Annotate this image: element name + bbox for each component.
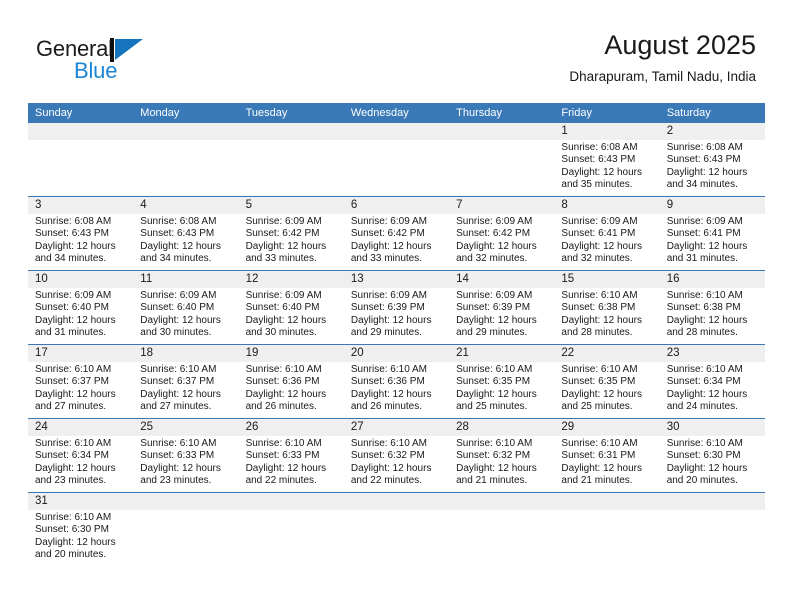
day-number-empty	[239, 123, 344, 140]
day-number-empty	[133, 493, 238, 510]
calendar-grid: SundayMondayTuesdayWednesdayThursdayFrid…	[28, 103, 765, 570]
day-number-empty	[449, 493, 554, 510]
day-number-empty	[344, 123, 449, 140]
day-detail-line: Sunset: 6:33 PM	[246, 450, 338, 462]
day-cell-12[interactable]: Sunrise: 6:09 AMSunset: 6:40 PMDaylight:…	[239, 288, 344, 344]
day-detail-line: Sunrise: 6:09 AM	[246, 216, 338, 228]
day-detail-line: Sunrise: 6:10 AM	[351, 364, 443, 376]
day-number-1[interactable]: 1	[554, 123, 659, 140]
day-detail-line: and 35 minutes.	[561, 179, 653, 191]
day-detail-line: Sunset: 6:43 PM	[561, 154, 653, 166]
day-detail-line: Sunrise: 6:08 AM	[561, 142, 653, 154]
day-detail-line: Sunrise: 6:10 AM	[667, 438, 759, 450]
day-cell-empty	[239, 140, 344, 196]
day-detail-line: Sunrise: 6:10 AM	[140, 438, 232, 450]
day-number-4[interactable]: 4	[133, 197, 238, 214]
day-detail-line: Sunrise: 6:10 AM	[561, 290, 653, 302]
day-detail-line: and 22 minutes.	[246, 475, 338, 487]
day-cell-14[interactable]: Sunrise: 6:09 AMSunset: 6:39 PMDaylight:…	[449, 288, 554, 344]
day-number-11[interactable]: 11	[133, 271, 238, 288]
day-detail-line: Sunset: 6:30 PM	[35, 524, 127, 536]
day-detail-line: Daylight: 12 hours	[35, 389, 127, 401]
day-cell-31[interactable]: Sunrise: 6:10 AMSunset: 6:30 PMDaylight:…	[28, 510, 133, 570]
day-detail-line: Sunrise: 6:10 AM	[35, 364, 127, 376]
day-number-2[interactable]: 2	[660, 123, 765, 140]
day-detail-line: Daylight: 12 hours	[140, 463, 232, 475]
weekday-header-saturday: Saturday	[660, 103, 765, 123]
day-cell-17[interactable]: Sunrise: 6:10 AMSunset: 6:37 PMDaylight:…	[28, 362, 133, 418]
day-number-24[interactable]: 24	[28, 419, 133, 436]
day-detail-line: and 30 minutes.	[140, 327, 232, 339]
day-detail-line: Sunset: 6:42 PM	[351, 228, 443, 240]
day-detail-line: Sunset: 6:43 PM	[667, 154, 759, 166]
day-cell-13[interactable]: Sunrise: 6:09 AMSunset: 6:39 PMDaylight:…	[344, 288, 449, 344]
day-detail-line: Sunset: 6:41 PM	[561, 228, 653, 240]
week-detail-band: Sunrise: 6:10 AMSunset: 6:34 PMDaylight:…	[28, 436, 765, 492]
weekday-header-row: SundayMondayTuesdayWednesdayThursdayFrid…	[28, 103, 765, 123]
weekday-header-thursday: Thursday	[449, 103, 554, 123]
day-detail-line: Daylight: 12 hours	[35, 315, 127, 327]
day-number-5[interactable]: 5	[239, 197, 344, 214]
day-number-30[interactable]: 30	[660, 419, 765, 436]
day-detail-line: Daylight: 12 hours	[561, 463, 653, 475]
day-cell-empty	[344, 140, 449, 196]
day-number-3[interactable]: 3	[28, 197, 133, 214]
day-number-22[interactable]: 22	[554, 345, 659, 362]
day-detail-line: Daylight: 12 hours	[561, 315, 653, 327]
title-block: August 2025 Dharapuram, Tamil Nadu, Indi…	[569, 28, 756, 87]
day-detail-line: and 25 minutes.	[561, 401, 653, 413]
day-number-empty	[554, 493, 659, 510]
day-detail-line: and 27 minutes.	[140, 401, 232, 413]
day-detail-line: and 33 minutes.	[246, 253, 338, 265]
day-number-16[interactable]: 16	[660, 271, 765, 288]
day-cell-23[interactable]: Sunrise: 6:10 AMSunset: 6:34 PMDaylight:…	[660, 362, 765, 418]
day-cell-24[interactable]: Sunrise: 6:10 AMSunset: 6:34 PMDaylight:…	[28, 436, 133, 492]
day-detail-line: Daylight: 12 hours	[246, 315, 338, 327]
day-number-28[interactable]: 28	[449, 419, 554, 436]
day-detail-line: Sunset: 6:37 PM	[140, 376, 232, 388]
day-cell-empty	[660, 510, 765, 570]
week-detail-band: Sunrise: 6:08 AMSunset: 6:43 PMDaylight:…	[28, 214, 765, 270]
day-detail-line: Daylight: 12 hours	[246, 463, 338, 475]
day-detail-line: Sunrise: 6:09 AM	[246, 290, 338, 302]
day-detail-line: Sunset: 6:42 PM	[456, 228, 548, 240]
day-detail-line: and 32 minutes.	[561, 253, 653, 265]
day-detail-line: Sunset: 6:42 PM	[246, 228, 338, 240]
day-detail-line: Sunrise: 6:09 AM	[456, 216, 548, 228]
day-detail-line: Daylight: 12 hours	[246, 389, 338, 401]
day-detail-line: Sunrise: 6:08 AM	[667, 142, 759, 154]
week-daynumber-band: 31	[28, 493, 765, 510]
day-detail-line: Daylight: 12 hours	[456, 241, 548, 253]
day-detail-line: Daylight: 12 hours	[140, 389, 232, 401]
day-detail-line: Daylight: 12 hours	[561, 167, 653, 179]
week-detail-band: Sunrise: 6:09 AMSunset: 6:40 PMDaylight:…	[28, 288, 765, 344]
week-daynumber-band: 17181920212223	[28, 345, 765, 362]
day-cell-21[interactable]: Sunrise: 6:10 AMSunset: 6:35 PMDaylight:…	[449, 362, 554, 418]
brand-logo[interactable]: General Blue	[36, 36, 226, 88]
day-detail-line: Daylight: 12 hours	[561, 389, 653, 401]
day-number-17[interactable]: 17	[28, 345, 133, 362]
day-detail-line: Daylight: 12 hours	[351, 315, 443, 327]
day-detail-line: Daylight: 12 hours	[35, 537, 127, 549]
day-detail-line: Sunset: 6:38 PM	[667, 302, 759, 314]
day-detail-line: Daylight: 12 hours	[140, 241, 232, 253]
day-detail-line: and 30 minutes.	[246, 327, 338, 339]
day-detail-line: Sunrise: 6:10 AM	[667, 290, 759, 302]
day-cell-empty	[239, 510, 344, 570]
weekday-header-tuesday: Tuesday	[239, 103, 344, 123]
day-detail-line: Sunrise: 6:09 AM	[35, 290, 127, 302]
day-detail-line: Daylight: 12 hours	[246, 241, 338, 253]
day-detail-line: Sunrise: 6:08 AM	[140, 216, 232, 228]
day-detail-line: and 34 minutes.	[35, 253, 127, 265]
day-detail-line: Sunrise: 6:10 AM	[246, 364, 338, 376]
week-daynumber-band: 10111213141516	[28, 271, 765, 288]
day-detail-line: and 29 minutes.	[351, 327, 443, 339]
weekday-header-friday: Friday	[554, 103, 659, 123]
day-number-8[interactable]: 8	[554, 197, 659, 214]
day-detail-line: Sunrise: 6:10 AM	[140, 364, 232, 376]
day-number-9[interactable]: 9	[660, 197, 765, 214]
day-number-25[interactable]: 25	[133, 419, 238, 436]
day-number-18[interactable]: 18	[133, 345, 238, 362]
day-detail-line: and 34 minutes.	[140, 253, 232, 265]
day-cell-29[interactable]: Sunrise: 6:10 AMSunset: 6:31 PMDaylight:…	[554, 436, 659, 492]
day-detail-line: Sunrise: 6:09 AM	[351, 216, 443, 228]
day-cell-6[interactable]: Sunrise: 6:09 AMSunset: 6:42 PMDaylight:…	[344, 214, 449, 270]
day-detail-line: Sunrise: 6:10 AM	[351, 438, 443, 450]
day-detail-line: Sunrise: 6:10 AM	[35, 512, 127, 524]
day-cell-22[interactable]: Sunrise: 6:10 AMSunset: 6:35 PMDaylight:…	[554, 362, 659, 418]
day-detail-line: Sunset: 6:43 PM	[140, 228, 232, 240]
day-number-14[interactable]: 14	[449, 271, 554, 288]
day-detail-line: Daylight: 12 hours	[561, 241, 653, 253]
day-cell-3[interactable]: Sunrise: 6:08 AMSunset: 6:43 PMDaylight:…	[28, 214, 133, 270]
calendar-weeks: 12Sunrise: 6:08 AMSunset: 6:43 PMDayligh…	[28, 123, 765, 570]
day-detail-line: Sunset: 6:33 PM	[140, 450, 232, 462]
day-cell-16[interactable]: Sunrise: 6:10 AMSunset: 6:38 PMDaylight:…	[660, 288, 765, 344]
day-detail-line: and 20 minutes.	[667, 475, 759, 487]
day-detail-line: Sunrise: 6:10 AM	[561, 364, 653, 376]
day-cell-26[interactable]: Sunrise: 6:10 AMSunset: 6:33 PMDaylight:…	[239, 436, 344, 492]
day-detail-line: Sunset: 6:40 PM	[246, 302, 338, 314]
day-detail-line: Daylight: 12 hours	[351, 389, 443, 401]
day-detail-line: Sunrise: 6:10 AM	[561, 438, 653, 450]
page-title: August 2025	[569, 28, 756, 62]
day-detail-line: and 27 minutes.	[35, 401, 127, 413]
day-detail-line: Daylight: 12 hours	[456, 315, 548, 327]
day-detail-line: Daylight: 12 hours	[667, 241, 759, 253]
weekday-header-monday: Monday	[133, 103, 238, 123]
week-detail-band: Sunrise: 6:08 AMSunset: 6:43 PMDaylight:…	[28, 140, 765, 196]
day-number-23[interactable]: 23	[660, 345, 765, 362]
day-number-7[interactable]: 7	[449, 197, 554, 214]
day-detail-line: and 29 minutes.	[456, 327, 548, 339]
week-daynumber-band: 24252627282930	[28, 419, 765, 436]
day-number-13[interactable]: 13	[344, 271, 449, 288]
day-detail-line: Daylight: 12 hours	[456, 463, 548, 475]
day-detail-line: Sunset: 6:43 PM	[35, 228, 127, 240]
day-detail-line: Sunrise: 6:10 AM	[456, 438, 548, 450]
day-number-20[interactable]: 20	[344, 345, 449, 362]
day-detail-line: Sunset: 6:32 PM	[456, 450, 548, 462]
day-number-29[interactable]: 29	[554, 419, 659, 436]
day-detail-line: Sunset: 6:39 PM	[456, 302, 548, 314]
day-detail-line: and 23 minutes.	[35, 475, 127, 487]
day-detail-line: Sunrise: 6:09 AM	[351, 290, 443, 302]
calendar-page: General Blue August 2025 Dharapuram, Tam…	[0, 0, 792, 612]
day-detail-line: Sunset: 6:40 PM	[35, 302, 127, 314]
day-number-27[interactable]: 27	[344, 419, 449, 436]
day-number-26[interactable]: 26	[239, 419, 344, 436]
day-cell-15[interactable]: Sunrise: 6:10 AMSunset: 6:38 PMDaylight:…	[554, 288, 659, 344]
day-number-19[interactable]: 19	[239, 345, 344, 362]
day-detail-line: Daylight: 12 hours	[35, 241, 127, 253]
day-cell-1[interactable]: Sunrise: 6:08 AMSunset: 6:43 PMDaylight:…	[554, 140, 659, 196]
day-detail-line: Sunset: 6:36 PM	[246, 376, 338, 388]
day-cell-empty	[28, 140, 133, 196]
day-number-12[interactable]: 12	[239, 271, 344, 288]
day-detail-line: Sunset: 6:38 PM	[561, 302, 653, 314]
day-number-empty	[344, 493, 449, 510]
day-detail-line: Sunset: 6:41 PM	[667, 228, 759, 240]
day-cell-28[interactable]: Sunrise: 6:10 AMSunset: 6:32 PMDaylight:…	[449, 436, 554, 492]
day-detail-line: Sunrise: 6:10 AM	[456, 364, 548, 376]
day-cell-11[interactable]: Sunrise: 6:09 AMSunset: 6:40 PMDaylight:…	[133, 288, 238, 344]
day-cell-8[interactable]: Sunrise: 6:09 AMSunset: 6:41 PMDaylight:…	[554, 214, 659, 270]
day-number-10[interactable]: 10	[28, 271, 133, 288]
day-cell-19[interactable]: Sunrise: 6:10 AMSunset: 6:36 PMDaylight:…	[239, 362, 344, 418]
calendar-week-row: 31Sunrise: 6:10 AMSunset: 6:30 PMDayligh…	[28, 492, 765, 570]
day-detail-line: Daylight: 12 hours	[351, 463, 443, 475]
day-cell-empty	[133, 510, 238, 570]
day-number-31[interactable]: 31	[28, 493, 133, 510]
day-detail-line: Daylight: 12 hours	[667, 315, 759, 327]
day-detail-line: and 25 minutes.	[456, 401, 548, 413]
day-detail-line: Sunrise: 6:09 AM	[456, 290, 548, 302]
week-detail-band: Sunrise: 6:10 AMSunset: 6:37 PMDaylight:…	[28, 362, 765, 418]
day-detail-line: and 22 minutes.	[351, 475, 443, 487]
day-cell-2[interactable]: Sunrise: 6:08 AMSunset: 6:43 PMDaylight:…	[660, 140, 765, 196]
day-detail-line: Sunset: 6:31 PM	[561, 450, 653, 462]
calendar-week-row: 3456789Sunrise: 6:08 AMSunset: 6:43 PMDa…	[28, 196, 765, 270]
day-number-empty	[28, 123, 133, 140]
calendar-week-row: 24252627282930Sunrise: 6:10 AMSunset: 6:…	[28, 418, 765, 492]
day-detail-line: and 21 minutes.	[456, 475, 548, 487]
day-detail-line: and 26 minutes.	[246, 401, 338, 413]
day-cell-empty	[344, 510, 449, 570]
day-detail-line: and 23 minutes.	[140, 475, 232, 487]
day-detail-line: Daylight: 12 hours	[667, 389, 759, 401]
day-number-empty	[133, 123, 238, 140]
day-detail-line: Sunrise: 6:09 AM	[667, 216, 759, 228]
day-detail-line: Daylight: 12 hours	[35, 463, 127, 475]
day-detail-line: and 32 minutes.	[456, 253, 548, 265]
day-detail-line: and 20 minutes.	[35, 549, 127, 561]
day-detail-line: Daylight: 12 hours	[351, 241, 443, 253]
day-cell-27[interactable]: Sunrise: 6:10 AMSunset: 6:32 PMDaylight:…	[344, 436, 449, 492]
week-daynumber-band: 12	[28, 123, 765, 140]
day-detail-line: and 24 minutes.	[667, 401, 759, 413]
day-cell-5[interactable]: Sunrise: 6:09 AMSunset: 6:42 PMDaylight:…	[239, 214, 344, 270]
day-cell-empty	[554, 510, 659, 570]
page-header: General Blue August 2025 Dharapuram, Tam…	[0, 0, 792, 100]
page-subtitle-location: Dharapuram, Tamil Nadu, India	[569, 67, 756, 87]
day-cell-4[interactable]: Sunrise: 6:08 AMSunset: 6:43 PMDaylight:…	[133, 214, 238, 270]
day-detail-line: Sunrise: 6:10 AM	[246, 438, 338, 450]
day-detail-line: Daylight: 12 hours	[140, 315, 232, 327]
day-number-6[interactable]: 6	[344, 197, 449, 214]
logo-triangle-shape	[115, 39, 143, 60]
weekday-header-wednesday: Wednesday	[344, 103, 449, 123]
day-detail-line: Sunrise: 6:08 AM	[35, 216, 127, 228]
day-detail-line: and 21 minutes.	[561, 475, 653, 487]
day-detail-line: Daylight: 12 hours	[667, 463, 759, 475]
day-detail-line: Sunrise: 6:09 AM	[561, 216, 653, 228]
day-detail-line: Daylight: 12 hours	[456, 389, 548, 401]
day-number-15[interactable]: 15	[554, 271, 659, 288]
day-detail-line: and 31 minutes.	[35, 327, 127, 339]
day-cell-empty	[449, 510, 554, 570]
calendar-week-row: 17181920212223Sunrise: 6:10 AMSunset: 6:…	[28, 344, 765, 418]
day-detail-line: Sunset: 6:34 PM	[35, 450, 127, 462]
day-number-empty	[660, 493, 765, 510]
day-detail-line: Sunset: 6:32 PM	[351, 450, 443, 462]
day-number-empty	[449, 123, 554, 140]
day-cell-30[interactable]: Sunrise: 6:10 AMSunset: 6:30 PMDaylight:…	[660, 436, 765, 492]
day-detail-line: Daylight: 12 hours	[667, 167, 759, 179]
week-daynumber-band: 3456789	[28, 197, 765, 214]
day-detail-line: Sunset: 6:35 PM	[456, 376, 548, 388]
day-detail-line: Sunrise: 6:09 AM	[140, 290, 232, 302]
day-detail-line: and 28 minutes.	[667, 327, 759, 339]
day-detail-line: Sunset: 6:40 PM	[140, 302, 232, 314]
day-cell-10[interactable]: Sunrise: 6:09 AMSunset: 6:40 PMDaylight:…	[28, 288, 133, 344]
logo-text-blue: Blue	[74, 58, 117, 84]
day-detail-line: and 31 minutes.	[667, 253, 759, 265]
day-detail-line: Sunset: 6:36 PM	[351, 376, 443, 388]
weekday-header-sunday: Sunday	[28, 103, 133, 123]
calendar-week-row: 12Sunrise: 6:08 AMSunset: 6:43 PMDayligh…	[28, 123, 765, 196]
day-detail-line: Sunset: 6:35 PM	[561, 376, 653, 388]
week-detail-band: Sunrise: 6:10 AMSunset: 6:30 PMDaylight:…	[28, 510, 765, 570]
day-detail-line: Sunset: 6:34 PM	[667, 376, 759, 388]
day-number-empty	[239, 493, 344, 510]
calendar-week-row: 10111213141516Sunrise: 6:09 AMSunset: 6:…	[28, 270, 765, 344]
day-detail-line: Sunrise: 6:10 AM	[667, 364, 759, 376]
day-detail-line: and 28 minutes.	[561, 327, 653, 339]
day-cell-7[interactable]: Sunrise: 6:09 AMSunset: 6:42 PMDaylight:…	[449, 214, 554, 270]
day-cell-25[interactable]: Sunrise: 6:10 AMSunset: 6:33 PMDaylight:…	[133, 436, 238, 492]
day-detail-line: Sunrise: 6:10 AM	[35, 438, 127, 450]
logo-top-row: General	[36, 36, 226, 62]
day-detail-line: Sunset: 6:37 PM	[35, 376, 127, 388]
day-detail-line: Sunset: 6:39 PM	[351, 302, 443, 314]
day-number-21[interactable]: 21	[449, 345, 554, 362]
day-detail-line: and 34 minutes.	[667, 179, 759, 191]
day-cell-empty	[449, 140, 554, 196]
day-cell-empty	[133, 140, 238, 196]
day-detail-line: Sunset: 6:30 PM	[667, 450, 759, 462]
day-cell-18[interactable]: Sunrise: 6:10 AMSunset: 6:37 PMDaylight:…	[133, 362, 238, 418]
day-cell-9[interactable]: Sunrise: 6:09 AMSunset: 6:41 PMDaylight:…	[660, 214, 765, 270]
day-cell-20[interactable]: Sunrise: 6:10 AMSunset: 6:36 PMDaylight:…	[344, 362, 449, 418]
day-detail-line: and 26 minutes.	[351, 401, 443, 413]
day-detail-line: and 33 minutes.	[351, 253, 443, 265]
